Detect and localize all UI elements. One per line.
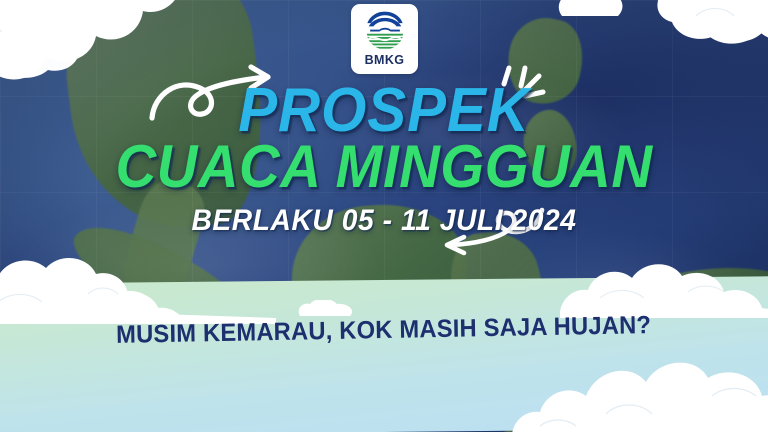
bmkg-logo-label: BMKG bbox=[365, 54, 405, 67]
headline-line-2: CUACA MINGGUAN bbox=[23, 141, 745, 194]
lower-pastel-panel bbox=[0, 276, 768, 432]
subtitle-block: MUSIM KEMARAU, KOK MASIH SAJA HUJAN? bbox=[0, 316, 768, 345]
weather-forecast-poster: BMKG PROSPEK bbox=[0, 0, 768, 432]
bmkg-logo-card[interactable]: BMKG bbox=[351, 4, 418, 74]
headline-validity-date: BERLAKU 05 - 11 JULI 2024 bbox=[23, 208, 745, 234]
headline-block: PROSPEK CUACA MINGGUAN BERLAKU 05 - 11 J… bbox=[0, 84, 768, 235]
headline-line-1: PROSPEK bbox=[23, 84, 745, 139]
subtitle-text: MUSIM KEMARAU, KOK MASIH SAJA HUJAN? bbox=[116, 311, 651, 350]
bmkg-logo-icon bbox=[361, 11, 409, 51]
